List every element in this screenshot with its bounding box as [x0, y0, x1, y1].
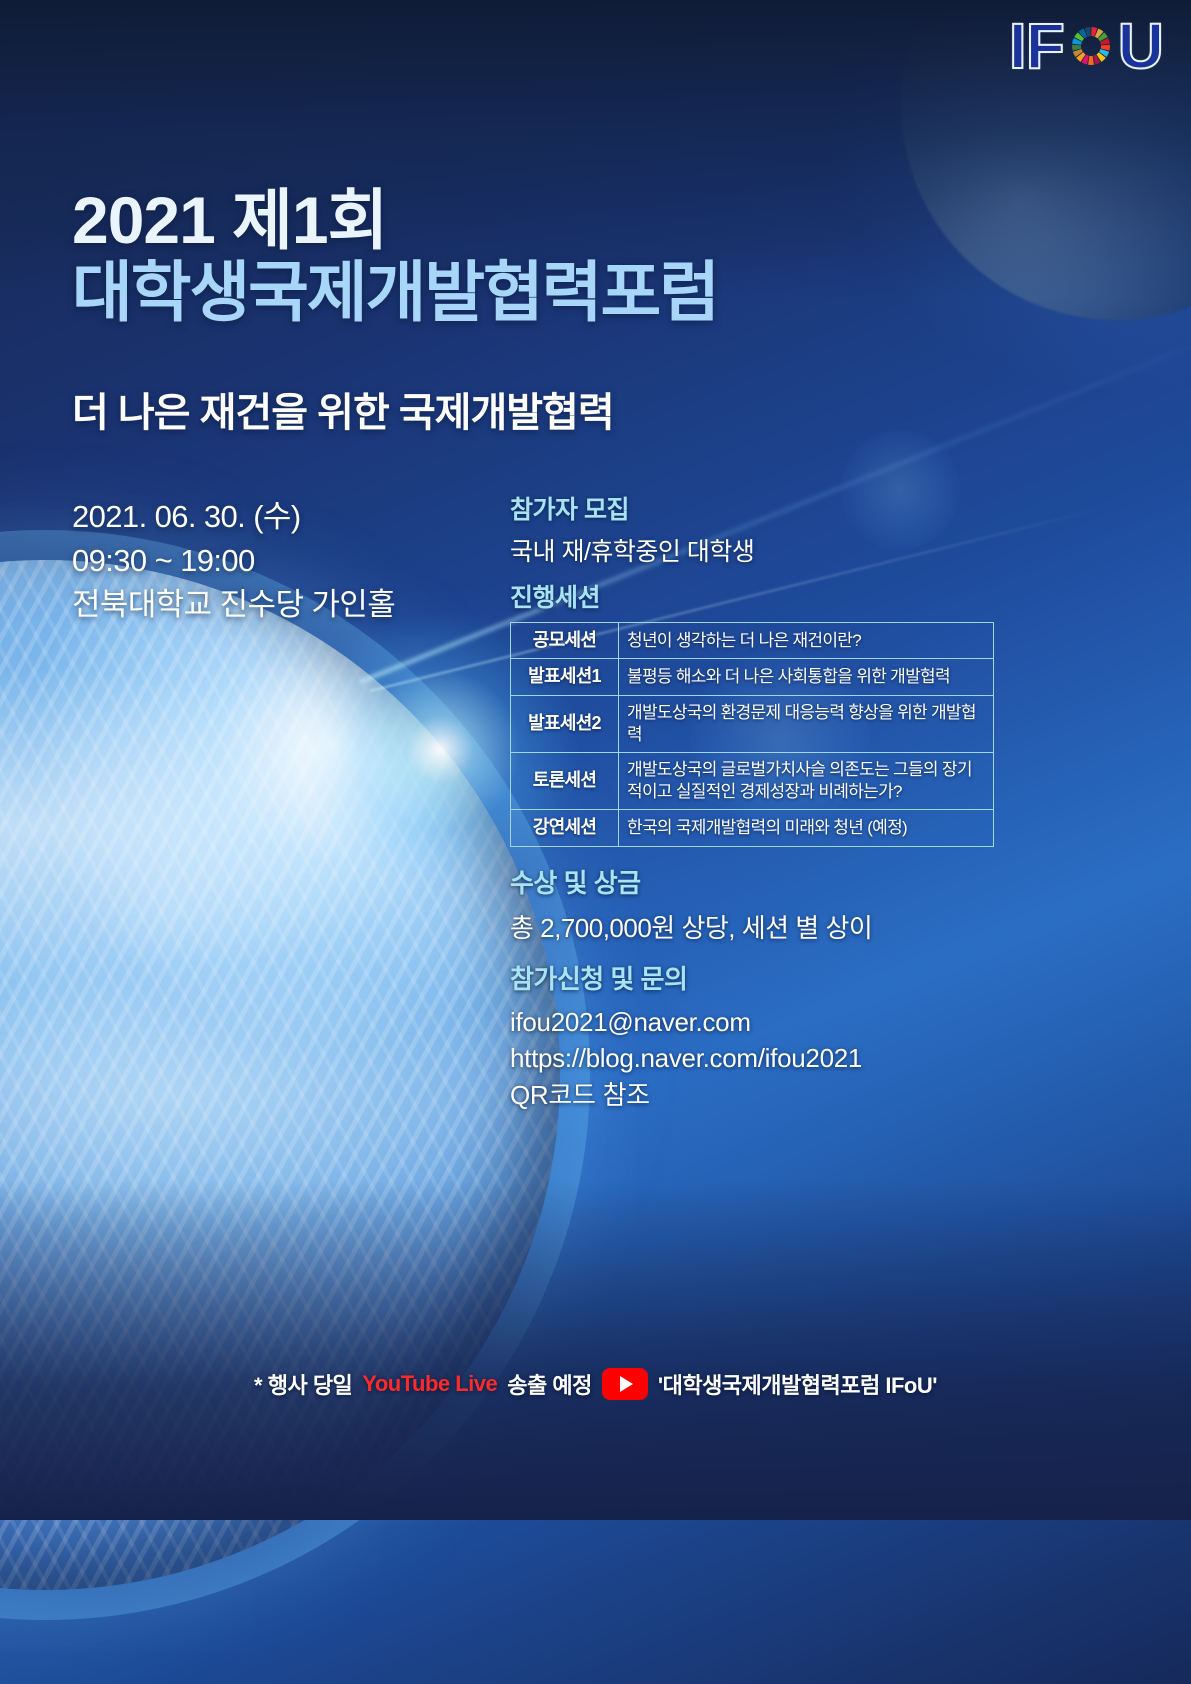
- session-label: 공모세션: [511, 623, 619, 659]
- award-heading: 수상 및 상금: [510, 863, 1010, 900]
- title-line-1: 2021 제1회: [72, 186, 718, 256]
- contact-heading: 참가신청 및 문의: [510, 959, 1010, 996]
- poster-subtitle: 더 나은 재건을 위한 국제개발협력: [72, 380, 614, 438]
- poster-title: 2021 제1회 대학생국제개발협력포럼: [72, 186, 718, 328]
- broadcast-prefix: * 행사 당일: [254, 1368, 352, 1400]
- table-row: 발표세션2개발도상국의 환경문제 대응능력 향상을 위한 개발협력: [511, 695, 994, 752]
- session-label: 토론세션: [511, 752, 619, 809]
- sessions-table: 공모세션청년이 생각하는 더 나은 재건이란?발표세션1불평등 해소와 더 나은…: [510, 622, 994, 847]
- award-block: 수상 및 상금 총 2,700,000원 상당, 세션 별 상이: [510, 863, 1010, 945]
- table-row: 토론세션개발도상국의 글로벌가치사슬 의존도는 그들의 장기적이고 실질적인 경…: [511, 752, 994, 809]
- poster-canvas: IF U 2021 제1회 대학생국제개발협력포럼 더 나은 재건을 위한 국제…: [0, 0, 1191, 1684]
- details-column: 참가자 모집 국내 재/휴학중인 대학생 진행세션 공모세션청년이 생각하는 더…: [510, 490, 1010, 1114]
- event-date: 2021. 06. 30. (수): [72, 495, 395, 539]
- contact-blog-url[interactable]: https://blog.naver.com/ifou2021: [510, 1040, 1010, 1077]
- table-row: 발표세션1불평등 해소와 더 나은 사회통합을 위한 개발협력: [511, 659, 994, 695]
- broadcast-highlight: YouTube Live: [362, 1371, 497, 1397]
- ifou-logo: IF U: [1009, 14, 1163, 78]
- broadcast-suffix: 송출 예정: [507, 1368, 592, 1400]
- event-venue: 전북대학교 진수당 가인홀: [72, 583, 395, 627]
- session-label: 발표세션2: [511, 695, 619, 752]
- session-topic: 개발도상국의 글로벌가치사슬 의존도는 그들의 장기적이고 실질적인 경제성장과…: [619, 752, 994, 809]
- broadcast-note: * 행사 당일 YouTube Live 송출 예정 '대학생국제개발협력포럼 …: [0, 1368, 1191, 1400]
- award-body: 총 2,700,000원 상당, 세션 별 상이: [510, 908, 1010, 945]
- event-time: 09:30 ~ 19:00: [72, 539, 395, 583]
- session-label: 강연세션: [511, 810, 619, 846]
- table-row: 강연세션한국의 국제개발협력의 미래와 청년 (예정): [511, 810, 994, 846]
- event-info-block: 2021. 06. 30. (수) 09:30 ~ 19:00 전북대학교 진수…: [72, 495, 395, 627]
- ifou-logo-if: IF: [1009, 14, 1064, 78]
- ifou-logo-u: U: [1118, 14, 1163, 78]
- sessions-heading: 진행세션: [510, 578, 1010, 614]
- sdg-wheel-icon: [1066, 21, 1116, 71]
- recruit-body: 국내 재/휴학중인 대학생: [510, 532, 1010, 568]
- bottom-vignette: [0, 1180, 1191, 1520]
- session-topic: 불평등 해소와 더 나은 사회통합을 위한 개발협력: [619, 659, 994, 695]
- contact-email[interactable]: ifou2021@naver.com: [510, 1004, 1010, 1041]
- youtube-play-icon[interactable]: [602, 1368, 648, 1400]
- table-row: 공모세션청년이 생각하는 더 나은 재건이란?: [511, 623, 994, 659]
- broadcast-channel: '대학생국제개발협력포럼 IFoU': [658, 1368, 937, 1400]
- contact-qr-note: QR코드 참조: [510, 1077, 1010, 1114]
- recruit-heading: 참가자 모집: [510, 490, 1010, 526]
- contact-block: 참가신청 및 문의 ifou2021@naver.com https://blo…: [510, 959, 1010, 1115]
- session-topic: 청년이 생각하는 더 나은 재건이란?: [619, 623, 994, 659]
- session-label: 발표세션1: [511, 659, 619, 695]
- session-topic: 개발도상국의 환경문제 대응능력 향상을 위한 개발협력: [619, 695, 994, 752]
- session-topic: 한국의 국제개발협력의 미래와 청년 (예정): [619, 810, 994, 846]
- title-line-2: 대학생국제개발협력포럼: [72, 258, 718, 328]
